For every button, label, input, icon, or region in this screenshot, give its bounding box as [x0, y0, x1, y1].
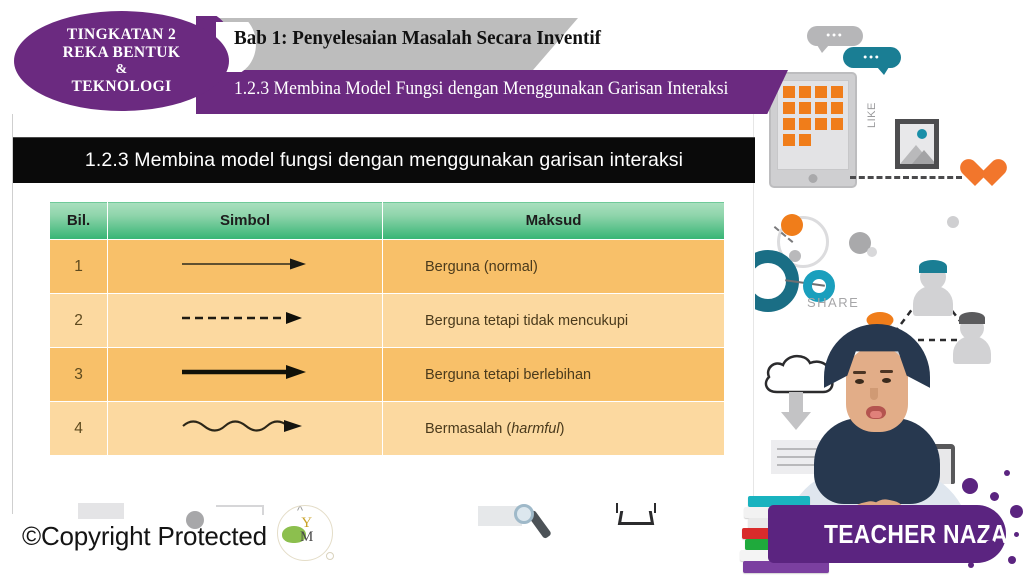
- cell-maksud: Bermasalah (harmful): [383, 402, 725, 456]
- node-dot-orange: [781, 214, 803, 236]
- maksud-text-tail: ): [560, 421, 565, 437]
- purple-dot-decoration: [1010, 505, 1023, 518]
- presenter-nose: [870, 388, 878, 400]
- cell-bil: 3: [50, 348, 108, 402]
- solid-arrow-icon: [180, 256, 310, 272]
- slide-heading: 1.2.3 Membina model fungsi dengan menggu…: [85, 149, 683, 172]
- cell-bil: 4: [50, 402, 108, 456]
- slide-content-area: 1.2.3 Membina model fungsi dengan menggu…: [12, 114, 754, 514]
- slide-heading-bar: 1.2.3 Membina model fungsi dengan menggu…: [13, 137, 755, 183]
- logo-line-4: TEKNOLOGI: [71, 78, 171, 96]
- table-row: 1 Berguna (normal): [50, 240, 725, 294]
- magnifier-icon: [514, 504, 534, 524]
- watermark-letter-m: M: [300, 531, 313, 545]
- like-label: LIKE: [866, 102, 878, 128]
- watermark-small-circle: [326, 552, 334, 560]
- tablet-home-button-icon: [809, 174, 818, 183]
- mountain-icon: [912, 150, 934, 164]
- avatar-person-teal: [913, 258, 953, 316]
- share-label: SHARE: [807, 295, 859, 310]
- purple-dot-decoration: [962, 478, 978, 494]
- bubble-dots: •••: [843, 52, 901, 63]
- tablet-icon: [769, 72, 857, 188]
- cell-maksud: Berguna tetapi tidak mencukupi: [383, 294, 725, 348]
- dashed-connector-line: [850, 176, 962, 179]
- wavy-arrow-icon: [180, 415, 310, 437]
- download-arrow-icon: [781, 412, 811, 430]
- basket-icon: [612, 503, 660, 525]
- node-dot-gray: [947, 216, 959, 228]
- bubble-dots: •••: [807, 31, 863, 42]
- faded-bracket-decoration: [216, 505, 264, 515]
- presenter-mouth: [866, 406, 886, 419]
- cell-maksud: Berguna (normal): [383, 240, 725, 294]
- cell-bil: 2: [50, 294, 108, 348]
- presenter-eye: [882, 378, 891, 383]
- chapter-title: Bab 1: Penyelesaian Masalah Secara Inven…: [234, 27, 569, 50]
- watermark-initials: Y M: [300, 517, 313, 545]
- node-dot-gray: [867, 247, 877, 257]
- cell-symbol-solid-arrow: [108, 240, 383, 294]
- sun-icon: [917, 129, 927, 139]
- cell-symbol-wavy-arrow: [108, 402, 383, 456]
- logo-line-3: &: [115, 62, 127, 77]
- speech-bubble-teal-icon: •••: [843, 47, 901, 68]
- copyright-notice: ©Copyright Protected: [22, 521, 267, 552]
- purple-dot-decoration: [1008, 556, 1016, 564]
- purple-dot-decoration: [1014, 532, 1019, 537]
- symbol-meaning-table: Bil. Simbol Maksud 1 Berguna (normal): [49, 201, 725, 456]
- heart-icon: [960, 160, 992, 188]
- thick-arrow-icon: [180, 363, 310, 381]
- cell-symbol-dashed-arrow: [108, 294, 383, 348]
- table-row: 4 Bermasalah (harmful): [50, 402, 725, 456]
- table-row: 2 Berguna tetapi tidak mencukupi: [50, 294, 725, 348]
- presenter-eyebrow: [853, 371, 866, 374]
- purple-dot-decoration: [990, 492, 999, 501]
- cell-maksud: Berguna tetapi berlebihan: [383, 348, 725, 402]
- table-row: 3 Berguna tetapi berlebihan: [50, 348, 725, 402]
- cell-bil: 1: [50, 240, 108, 294]
- column-header-maksud: Maksud: [383, 202, 725, 240]
- node-dot-gray: [789, 250, 801, 262]
- column-header-bil: Bil.: [50, 202, 108, 240]
- presenter-eye: [855, 379, 864, 384]
- presenter-eyebrow: [880, 370, 893, 373]
- maksud-italic-term: harmful: [511, 421, 559, 437]
- maksud-text: Bermasalah (: [425, 421, 511, 437]
- tablet-screen: [777, 80, 849, 170]
- table-header-row: Bil. Simbol Maksud: [50, 202, 725, 240]
- logo-line-2: REKA BENTUK: [63, 44, 181, 62]
- cell-symbol-thick-arrow: [108, 348, 383, 402]
- purple-dot-decoration: [985, 540, 996, 551]
- dashed-arrow-icon: [180, 310, 310, 326]
- purple-dot-decoration: [968, 562, 974, 568]
- download-arrow-icon: [789, 392, 803, 414]
- speech-bubble-gray-icon: •••: [807, 26, 863, 46]
- avatar-person-dark: [953, 310, 991, 364]
- course-logo-badge: TINGKATAN 2 REKA BENTUK & TEKNOLOGI: [14, 11, 229, 111]
- video-slide-frame: ••• ••• LIKE SHARE: [0, 0, 1024, 576]
- faded-rectangle-decoration: [78, 503, 124, 519]
- topic-title: 1.2.3 Membina Model Fungsi dengan Menggu…: [234, 79, 766, 100]
- app-grid-icon: [783, 86, 843, 146]
- column-header-simbol: Simbol: [108, 202, 383, 240]
- photo-frame-icon: [895, 119, 939, 169]
- teacher-name-badge: TEACHER NAZATUL: [768, 505, 1006, 563]
- logo-line-1: TINGKATAN 2: [67, 26, 176, 44]
- purple-dot-decoration: [1004, 470, 1010, 476]
